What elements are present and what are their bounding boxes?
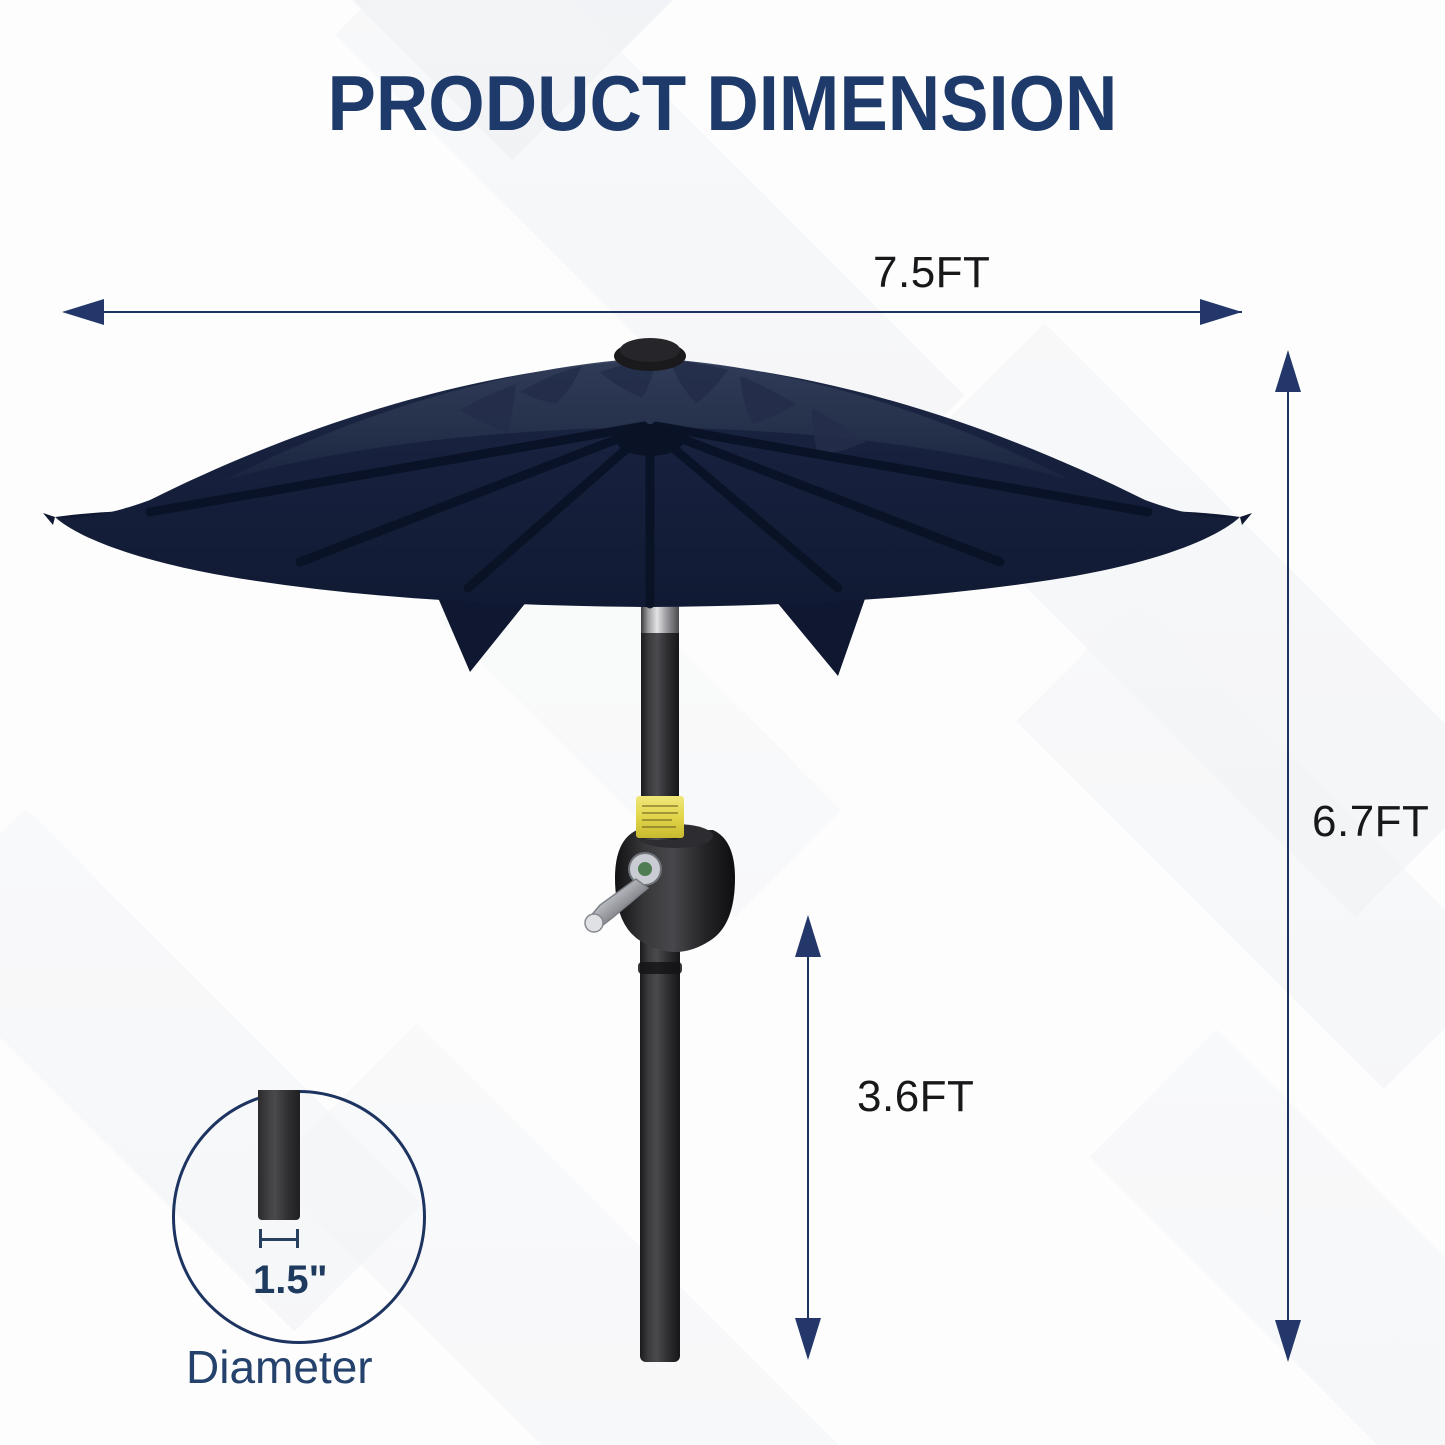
height-dimension-label: 6.7FT — [1312, 797, 1429, 847]
width-arrow-right-icon — [1200, 299, 1242, 325]
width-dimension-line — [96, 311, 1242, 313]
page-title: PRODUCT DIMENSION — [51, 58, 1395, 149]
width-dimension-label: 7.5FT — [873, 248, 990, 298]
diameter-measure-bar — [259, 1238, 299, 1241]
clearance-arrow-down-icon — [795, 1318, 821, 1360]
chevron-shape-8 — [438, 513, 841, 916]
diameter-tick-right — [296, 1229, 299, 1248]
clearance-arrow-up-icon — [795, 915, 821, 957]
diameter-inset-pole — [258, 1090, 300, 1220]
diameter-value-label: 1.5" — [253, 1258, 328, 1303]
chevron-shape-7 — [1090, 1030, 1445, 1445]
clearance-dimension-line — [807, 953, 809, 1323]
height-arrow-up-icon — [1275, 350, 1301, 392]
width-arrow-left-icon — [62, 299, 104, 325]
infographic-canvas: PRODUCT DIMENSION 7.5FT 6.7FT 3.6FT — [0, 0, 1445, 1445]
clearance-dimension-label: 3.6FT — [857, 1072, 974, 1122]
height-dimension-line — [1287, 388, 1289, 1326]
diameter-tick-left — [259, 1229, 262, 1248]
height-arrow-down-icon — [1275, 1320, 1301, 1362]
diameter-caption: Diameter — [186, 1340, 373, 1394]
